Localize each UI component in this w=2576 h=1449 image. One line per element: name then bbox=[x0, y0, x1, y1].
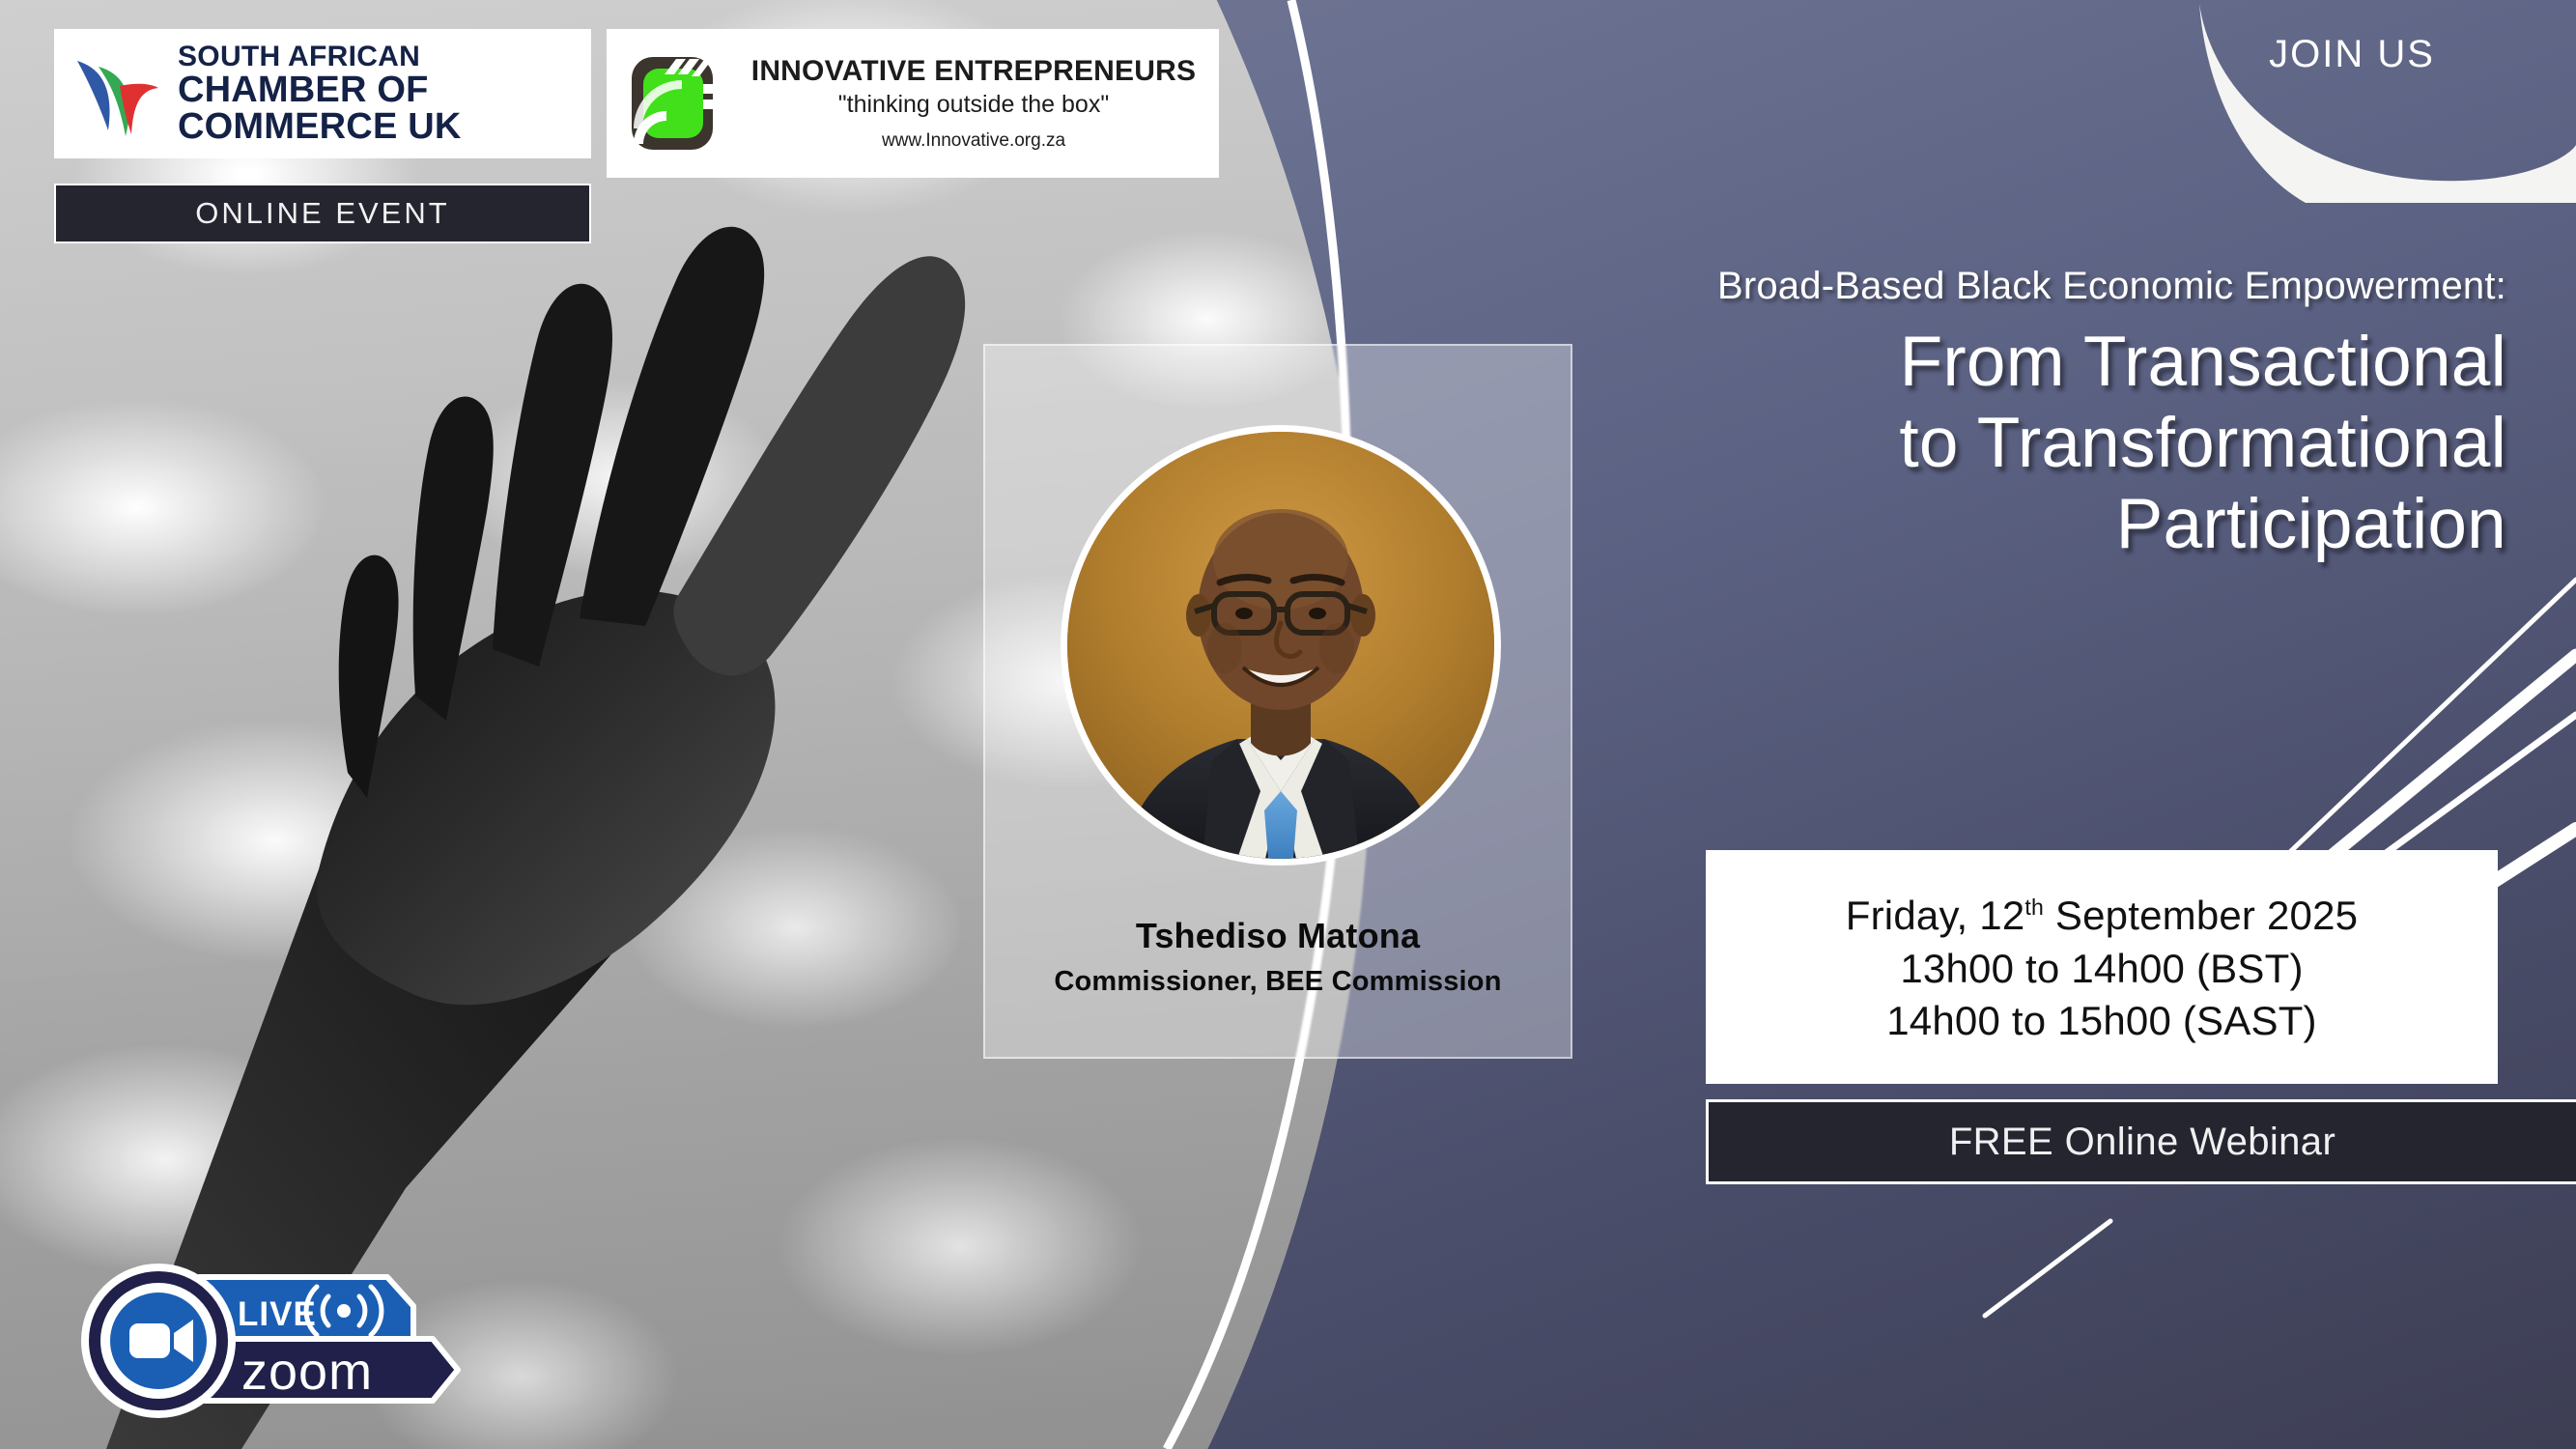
speaker-portrait bbox=[1061, 425, 1501, 866]
innovative-website: www.Innovative.org.za bbox=[882, 130, 1065, 152]
title-kicker: Broad-Based Black Economic Empowerment: bbox=[1367, 263, 2506, 310]
speaker-name: Tshediso Matona bbox=[983, 916, 1572, 956]
event-date-suffix: September 2025 bbox=[2044, 893, 2358, 938]
event-date-ordinal: th bbox=[2024, 895, 2044, 920]
online-event-badge: ONLINE EVENT bbox=[54, 184, 591, 243]
chamber-logo-line2: CHAMBER OF COMMERCE UK bbox=[178, 71, 576, 145]
event-details-box: Friday, 12th September 2025 13h00 to 14h… bbox=[1706, 850, 2498, 1084]
logo-row: SOUTH AFRICAN CHAMBER OF COMMERCE UK bbox=[54, 29, 1219, 178]
chamber-logo-line1: SOUTH AFRICAN bbox=[178, 43, 576, 71]
join-us-label: JOIN US bbox=[2161, 33, 2543, 76]
innovative-mark-icon bbox=[620, 51, 724, 156]
speaker-role: Commissioner, BEE Commission bbox=[983, 966, 1572, 998]
chamber-logo-card: SOUTH AFRICAN CHAMBER OF COMMERCE UK bbox=[54, 29, 591, 158]
online-event-label: ONLINE EVENT bbox=[195, 196, 449, 231]
join-us-decoration: JOIN US bbox=[2161, 0, 2576, 203]
innovative-logo-text: INNOVATIVE ENTREPRENEURS "thinking outsi… bbox=[742, 55, 1205, 151]
innovative-logo-card: INNOVATIVE ENTREPRENEURS "thinking outsi… bbox=[607, 29, 1219, 178]
event-time-sast: 14h00 to 15h00 (SAST) bbox=[1738, 995, 2466, 1048]
live-zoom-badge: LIVE zoom bbox=[54, 1256, 508, 1430]
innovative-tagline: "thinking outside the box" bbox=[838, 91, 1109, 119]
event-dates: Friday, 12th September 2025 13h00 to 14h… bbox=[1709, 853, 2495, 1081]
innovative-title: INNOVATIVE ENTREPRENEURS bbox=[751, 55, 1196, 89]
free-webinar-label: FREE Online Webinar bbox=[1949, 1121, 2335, 1164]
event-date-prefix: Friday, 12 bbox=[1846, 893, 2025, 938]
chamber-mark-icon bbox=[70, 47, 164, 140]
event-time-bst: 13h00 to 14h00 (BST) bbox=[1738, 943, 2466, 996]
svg-text:zoom: zoom bbox=[241, 1343, 373, 1401]
event-date-line: Friday, 12th September 2025 bbox=[1738, 890, 2466, 943]
event-poster: JOIN US SOUTH AFRICAN CHAMBER OF COMMERC… bbox=[0, 0, 2576, 1449]
free-webinar-banner: FREE Online Webinar bbox=[1706, 1099, 2576, 1184]
chamber-logo-text: SOUTH AFRICAN CHAMBER OF COMMERCE UK bbox=[178, 43, 576, 145]
